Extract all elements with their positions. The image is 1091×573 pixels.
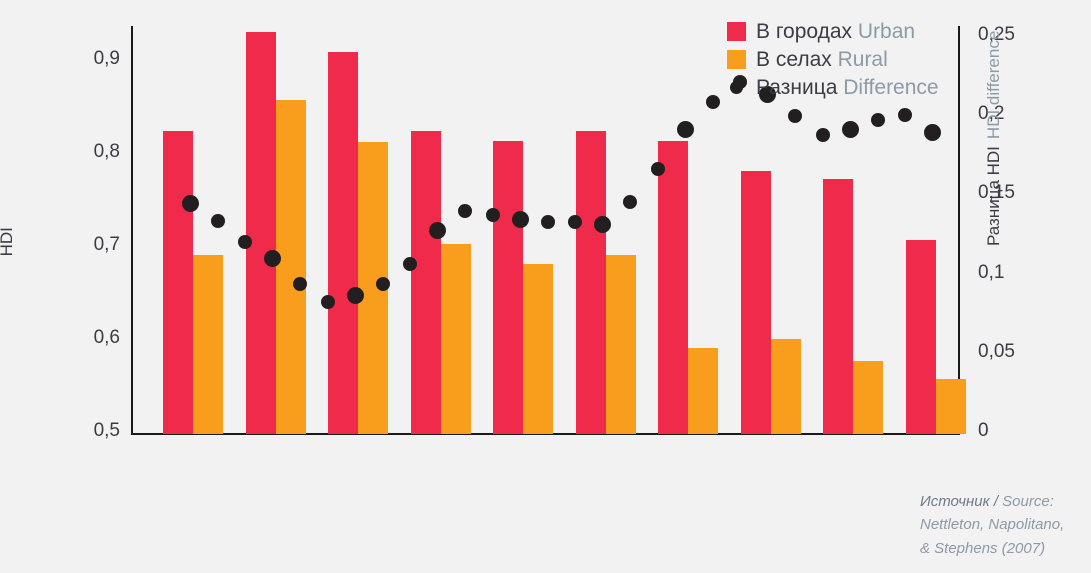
left-tick-0-9: 0,9 xyxy=(94,49,120,68)
legend-label-ru: В селах xyxy=(756,48,838,71)
swatch-rural-icon xyxy=(727,50,746,69)
difference-dot xyxy=(347,287,364,304)
difference-dot xyxy=(321,295,335,309)
chart-root: 0,90,80,70,60,5 0,250,20,150,10,050 HDI … xyxy=(0,0,1091,573)
left-tick-0-7: 0,7 xyxy=(94,235,120,254)
legend-label-ru: Разница xyxy=(756,76,843,99)
chart-legend: В городах UrbanВ селах RuralРазница Diff… xyxy=(727,18,939,100)
left-tick-0-8: 0,8 xyxy=(94,142,120,161)
legend-label-urban: В городах Urban xyxy=(756,21,915,42)
left-tick-0-6: 0,6 xyxy=(94,328,120,347)
difference-dot xyxy=(898,108,912,122)
legend-item-diff[interactable]: Разница Difference xyxy=(727,74,939,100)
difference-dot xyxy=(816,128,830,142)
left-axis-title: HDI xyxy=(0,227,16,256)
right-axis-title-en: HDI difference xyxy=(984,31,1004,139)
source-line-3: & Stephens (2007) xyxy=(920,537,1064,560)
legend-label-en: Difference xyxy=(843,76,938,99)
bar-urban xyxy=(741,171,771,434)
bar-urban xyxy=(906,240,936,434)
bar-urban xyxy=(576,131,606,434)
difference-dot xyxy=(677,121,694,138)
difference-dot xyxy=(512,211,529,228)
difference-dot xyxy=(623,195,637,209)
difference-dot xyxy=(924,124,941,141)
right-tick-0-1: 0,1 xyxy=(978,263,1004,282)
legend-label-diff: Разница Difference xyxy=(756,77,939,98)
bar-rural xyxy=(441,244,471,434)
bar-rural xyxy=(771,339,801,434)
legend-item-urban[interactable]: В городах Urban xyxy=(727,18,939,44)
legend-label-rural: В селах Rural xyxy=(756,49,888,70)
difference-dot xyxy=(376,277,390,291)
bar-rural xyxy=(193,255,223,434)
difference-dot xyxy=(788,109,802,123)
legend-label-ru: В городах xyxy=(756,20,858,43)
bar-rural xyxy=(688,348,718,434)
difference-dot xyxy=(651,162,665,176)
bar-rural xyxy=(276,100,306,434)
source-note: Источник / Source: Nettleton, Napolitano… xyxy=(920,490,1064,560)
right-tick-0: 0 xyxy=(978,421,989,440)
bar-urban xyxy=(411,131,441,434)
difference-dot xyxy=(403,257,417,271)
difference-dot xyxy=(211,214,225,228)
swatch-urban-icon xyxy=(727,22,746,41)
right-tick-0-05: 0,05 xyxy=(978,342,1015,361)
left-tick-0-5: 0,5 xyxy=(94,421,120,440)
difference-dot xyxy=(486,208,500,222)
bar-urban xyxy=(163,131,193,434)
source-label-ru: Источник / xyxy=(920,493,1002,510)
bar-rural xyxy=(853,361,883,434)
difference-dot xyxy=(458,204,472,218)
difference-dot xyxy=(706,95,720,109)
bar-urban xyxy=(328,52,358,434)
bar-urban xyxy=(246,32,276,434)
right-axis-title: Разница HDI HDI difference xyxy=(984,31,1004,246)
difference-dot xyxy=(871,113,885,127)
bar-urban xyxy=(823,179,853,434)
difference-dot xyxy=(541,215,555,229)
bar-urban xyxy=(658,141,688,434)
legend-label-en: Urban xyxy=(858,20,915,43)
left-axis-ticks: 0,90,80,70,60,5 xyxy=(60,0,120,573)
source-label-en: Source: xyxy=(1002,493,1054,510)
bar-rural xyxy=(936,379,966,434)
source-line-1: Источник / Source: xyxy=(920,490,1064,513)
legend-label-en: Rural xyxy=(838,48,888,71)
right-axis-title-ru: Разница HDI xyxy=(984,146,1004,246)
difference-dot xyxy=(842,121,859,138)
difference-dot xyxy=(238,235,252,249)
difference-dot xyxy=(429,222,446,239)
difference-dot xyxy=(182,195,199,212)
difference-dot xyxy=(594,216,611,233)
source-line-2: Nettleton, Napolitano, xyxy=(920,513,1064,536)
dot-marker-icon xyxy=(727,78,746,97)
legend-item-rural[interactable]: В селах Rural xyxy=(727,46,939,72)
bar-rural xyxy=(523,264,553,434)
bar-urban xyxy=(493,141,523,434)
bar-rural xyxy=(606,255,636,434)
